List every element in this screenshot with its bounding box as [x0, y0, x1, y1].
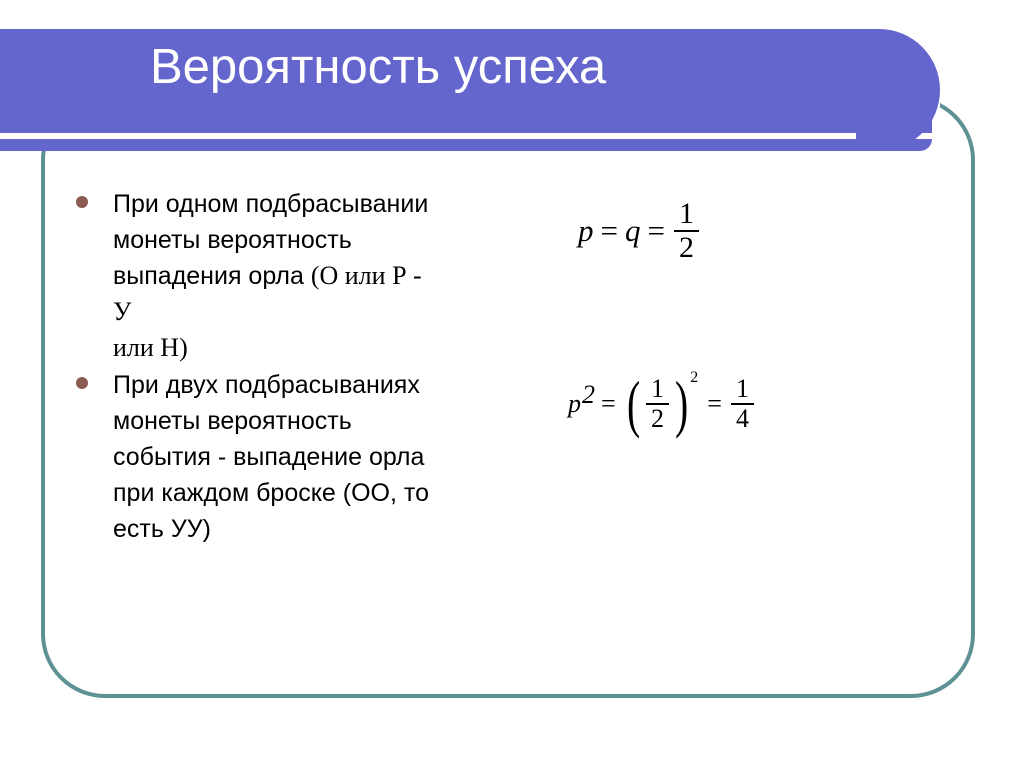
bullet-1-line-1: При одном подбрасывании	[113, 190, 428, 218]
bullet-2-line-1: При двух подбрасываниях	[113, 371, 420, 399]
formula-2-left-paren: (	[627, 372, 640, 436]
bullet-2-line-5: есть УУ)	[113, 515, 211, 543]
formula-2-exponent: 2	[582, 380, 595, 410]
formula-1-equals-1: =	[601, 213, 618, 249]
formula-1-equals-2: =	[647, 213, 664, 249]
bullet-2-line-2: монеты вероятность	[113, 407, 352, 435]
bullet-2-line-3: события - выпадение орла	[113, 443, 424, 471]
list-item-text: При одном подбрасывании монеты вероятнос…	[113, 186, 443, 366]
bullet-1-line-4-serif: или Н)	[113, 333, 188, 362]
formula-2-inner-numerator: 1	[646, 375, 669, 403]
bullet-1-line-3-sans: выпадения орла	[113, 262, 311, 290]
list-item-text: При двух подбрасываниях монеты вероятнос…	[113, 367, 443, 547]
slide-content: При одном подбрасывании монеты вероятнос…	[0, 0, 1024, 767]
bullet-dot-icon	[76, 377, 88, 389]
formula-probability-two-tosses: p2 = ( 1 2 ) 2 = 1 4	[568, 372, 756, 436]
formula-1-denominator: 2	[674, 232, 699, 264]
bullet-2-line-4: при каждом броске (ОО, то	[113, 479, 429, 507]
bullet-1-line-2: монеты вероятность	[113, 226, 352, 254]
formula-2-inner-fraction: 1 2	[646, 375, 669, 433]
formula-2-right-paren: )	[675, 372, 688, 436]
formula-2-result-denominator: 4	[731, 405, 754, 433]
formula-2-paren-group: ( 1 2 ) 2	[623, 372, 701, 436]
formula-2-paren-exponent: 2	[690, 369, 698, 387]
formula-1-var-p: p	[578, 213, 594, 249]
formula-1-numerator: 1	[674, 198, 699, 230]
formula-2-equals-2: =	[707, 389, 722, 419]
formula-2-result-fraction: 1 4	[731, 375, 754, 433]
formula-1-var-q: q	[625, 213, 641, 249]
formula-2-equals-1: =	[601, 389, 616, 419]
formula-2-inner-denominator: 2	[646, 405, 669, 433]
formula-2-var-p: p	[568, 389, 581, 419]
formula-probability-single-toss: p = q = 1 2	[578, 198, 701, 264]
list-item: При одном подбрасывании монеты вероятнос…	[76, 186, 443, 366]
formula-2-result-numerator: 1	[731, 375, 754, 403]
bullet-dot-icon	[76, 196, 88, 208]
list-item: При двух подбрасываниях монеты вероятнос…	[76, 367, 443, 547]
slide: Вероятность успеха При одном подбрасыван…	[0, 0, 1024, 767]
formula-1-fraction: 1 2	[674, 198, 699, 264]
